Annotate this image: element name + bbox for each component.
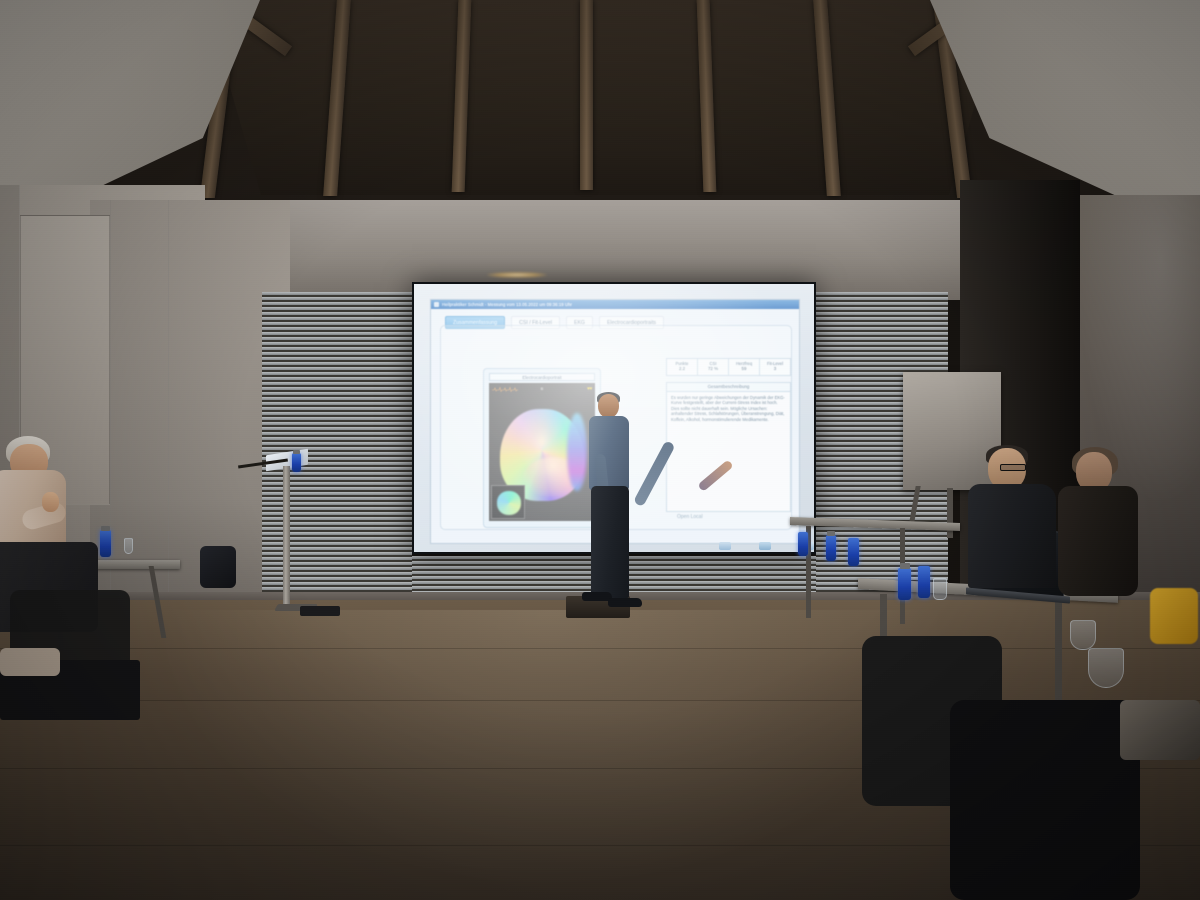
blind-slat — [816, 492, 948, 495]
blind-slat — [262, 422, 412, 425]
open-local-link[interactable]: Open Local — [677, 514, 703, 520]
presenter — [576, 394, 642, 614]
blind-slat — [816, 307, 948, 310]
portrait-thumbnail[interactable] — [491, 485, 525, 519]
metric-value: 2.2 — [667, 366, 697, 372]
blind-slat — [816, 342, 948, 345]
blind-slat — [262, 302, 412, 305]
blind-slat — [262, 392, 412, 395]
blue-bottle[interactable] — [292, 453, 301, 472]
blind-slat — [816, 502, 948, 505]
torso-shirt — [589, 416, 629, 490]
blue-bottle[interactable] — [826, 535, 836, 561]
metrics-table: Punkte 2.2 CSI 72 % Herzfreq 59 — [666, 358, 791, 376]
bottle-cap — [827, 531, 835, 536]
metric-value: 59 — [729, 366, 759, 372]
blind-slat — [262, 332, 412, 335]
blind-slat — [262, 327, 412, 330]
blind-slat — [816, 507, 948, 510]
blind-slat — [262, 322, 412, 325]
blind-slat — [816, 362, 948, 365]
metric-value: 72 % — [698, 366, 728, 372]
lectern-post — [283, 466, 290, 608]
hand — [42, 492, 59, 512]
blue-bottle[interactable] — [848, 538, 859, 566]
blind-slat — [816, 367, 948, 370]
blind-slat — [262, 342, 412, 345]
blind-slat — [262, 397, 412, 400]
metric-punkte: Punkte 2.2 — [667, 359, 698, 375]
blind-slat — [816, 332, 948, 335]
blind-slat — [262, 347, 412, 350]
shoe — [608, 598, 642, 607]
folder-icon[interactable] — [719, 542, 731, 550]
heart-rating-icon: ♥♥ — [587, 386, 592, 392]
drinking-glass[interactable] — [933, 578, 947, 600]
blind-slat — [262, 442, 412, 445]
conference-room-photo: Heilpraktiker Schmidt - Messung vom 13.0… — [0, 0, 1200, 900]
blind-slat — [262, 427, 412, 430]
blind-slat — [816, 512, 948, 515]
blind-slat — [816, 352, 948, 355]
blind-slat — [816, 312, 948, 315]
floor-plank-line — [0, 648, 1200, 649]
window-titlebar: Heilpraktiker Schmidt - Messung vom 13.0… — [431, 300, 799, 309]
legs-trousers — [591, 486, 629, 598]
attendee-right-second — [1062, 452, 1152, 612]
blind-slat — [262, 417, 412, 420]
backpack[interactable] — [200, 546, 236, 588]
ceiling-beam — [580, 0, 593, 190]
metric-herzfreq: Herzfreq 59 — [729, 359, 760, 375]
wall-seam — [168, 200, 169, 620]
blind-slat — [262, 402, 412, 405]
ecg-waveform-icon — [492, 386, 518, 392]
blind-slat — [816, 347, 948, 350]
drinking-glass[interactable] — [1088, 648, 1124, 688]
bottle-cap — [900, 563, 910, 569]
blind-slat — [816, 297, 948, 300]
viz-overlay-label: B — [541, 386, 544, 391]
blind-slat — [262, 377, 412, 380]
blue-bottle[interactable] — [898, 568, 911, 600]
blind-slat — [262, 352, 412, 355]
metric-csi: CSI 72 % — [698, 359, 729, 375]
metric-fit-level: Fit-Level 3 — [760, 359, 790, 375]
blind-slat — [816, 302, 948, 305]
bottle-cap — [293, 450, 300, 454]
torso — [1058, 486, 1138, 596]
torso — [0, 470, 66, 546]
blind-slat — [816, 317, 948, 320]
blind-slat — [262, 437, 412, 440]
blind-slat — [262, 292, 412, 295]
blind-slat — [262, 337, 412, 340]
blind-slat — [262, 387, 412, 390]
blind-slat — [262, 432, 412, 435]
torso — [968, 484, 1056, 588]
yellow-jacket — [1150, 588, 1198, 644]
blind-slat — [816, 337, 948, 340]
ceiling-beam — [200, 0, 239, 198]
window-title: Heilpraktiker Schmidt - Messung vom 13.0… — [442, 302, 572, 307]
description-body: Es wurden nur geringe Abweichungen der D… — [667, 392, 790, 426]
app-icon[interactable] — [759, 542, 771, 550]
electrocardioportrait-title: Electrocardioportrait — [489, 373, 595, 381]
blind-slat — [262, 367, 412, 370]
head — [598, 394, 619, 418]
blind-slat — [262, 312, 412, 315]
eyeglasses — [1000, 464, 1026, 471]
blind-slat — [816, 532, 948, 535]
drinking-glass[interactable] — [124, 538, 133, 554]
blind-slat — [262, 407, 412, 410]
attendee-leg — [0, 648, 60, 676]
blind-slat — [816, 327, 948, 330]
app-window-icon — [434, 302, 439, 307]
blind-slat — [816, 497, 948, 500]
description-box: Gesamtbeschreibung Es wurden nur geringe… — [666, 382, 791, 512]
blind-slat — [816, 357, 948, 360]
blue-bottle[interactable] — [798, 532, 808, 556]
blind-slat — [262, 382, 412, 385]
floor-cable-cover — [300, 606, 340, 616]
metric-value: 3 — [760, 366, 790, 372]
ceiling-light-strip — [487, 272, 547, 278]
blue-bottle[interactable] — [918, 566, 930, 598]
thumbnail-dome — [497, 491, 521, 515]
blind-slat — [262, 447, 412, 450]
blind-slat — [262, 412, 412, 415]
blind-slat — [262, 307, 412, 310]
blind-slat — [816, 292, 948, 295]
floor-light-reflection — [150, 610, 950, 890]
bag[interactable] — [1120, 700, 1200, 760]
blind-slat — [262, 317, 412, 320]
summary-card: Punkte 2.2 CSI 72 % Herzfreq 59 — [666, 358, 791, 533]
blind-slat — [816, 322, 948, 325]
blind-slat — [262, 297, 412, 300]
blind-slat — [262, 357, 412, 360]
chair-right-2[interactable] — [950, 700, 1140, 900]
blind-slat — [262, 362, 412, 365]
description-header: Gesamtbeschreibung — [667, 383, 790, 392]
blind-slat — [816, 562, 948, 565]
blind-slat — [262, 372, 412, 375]
